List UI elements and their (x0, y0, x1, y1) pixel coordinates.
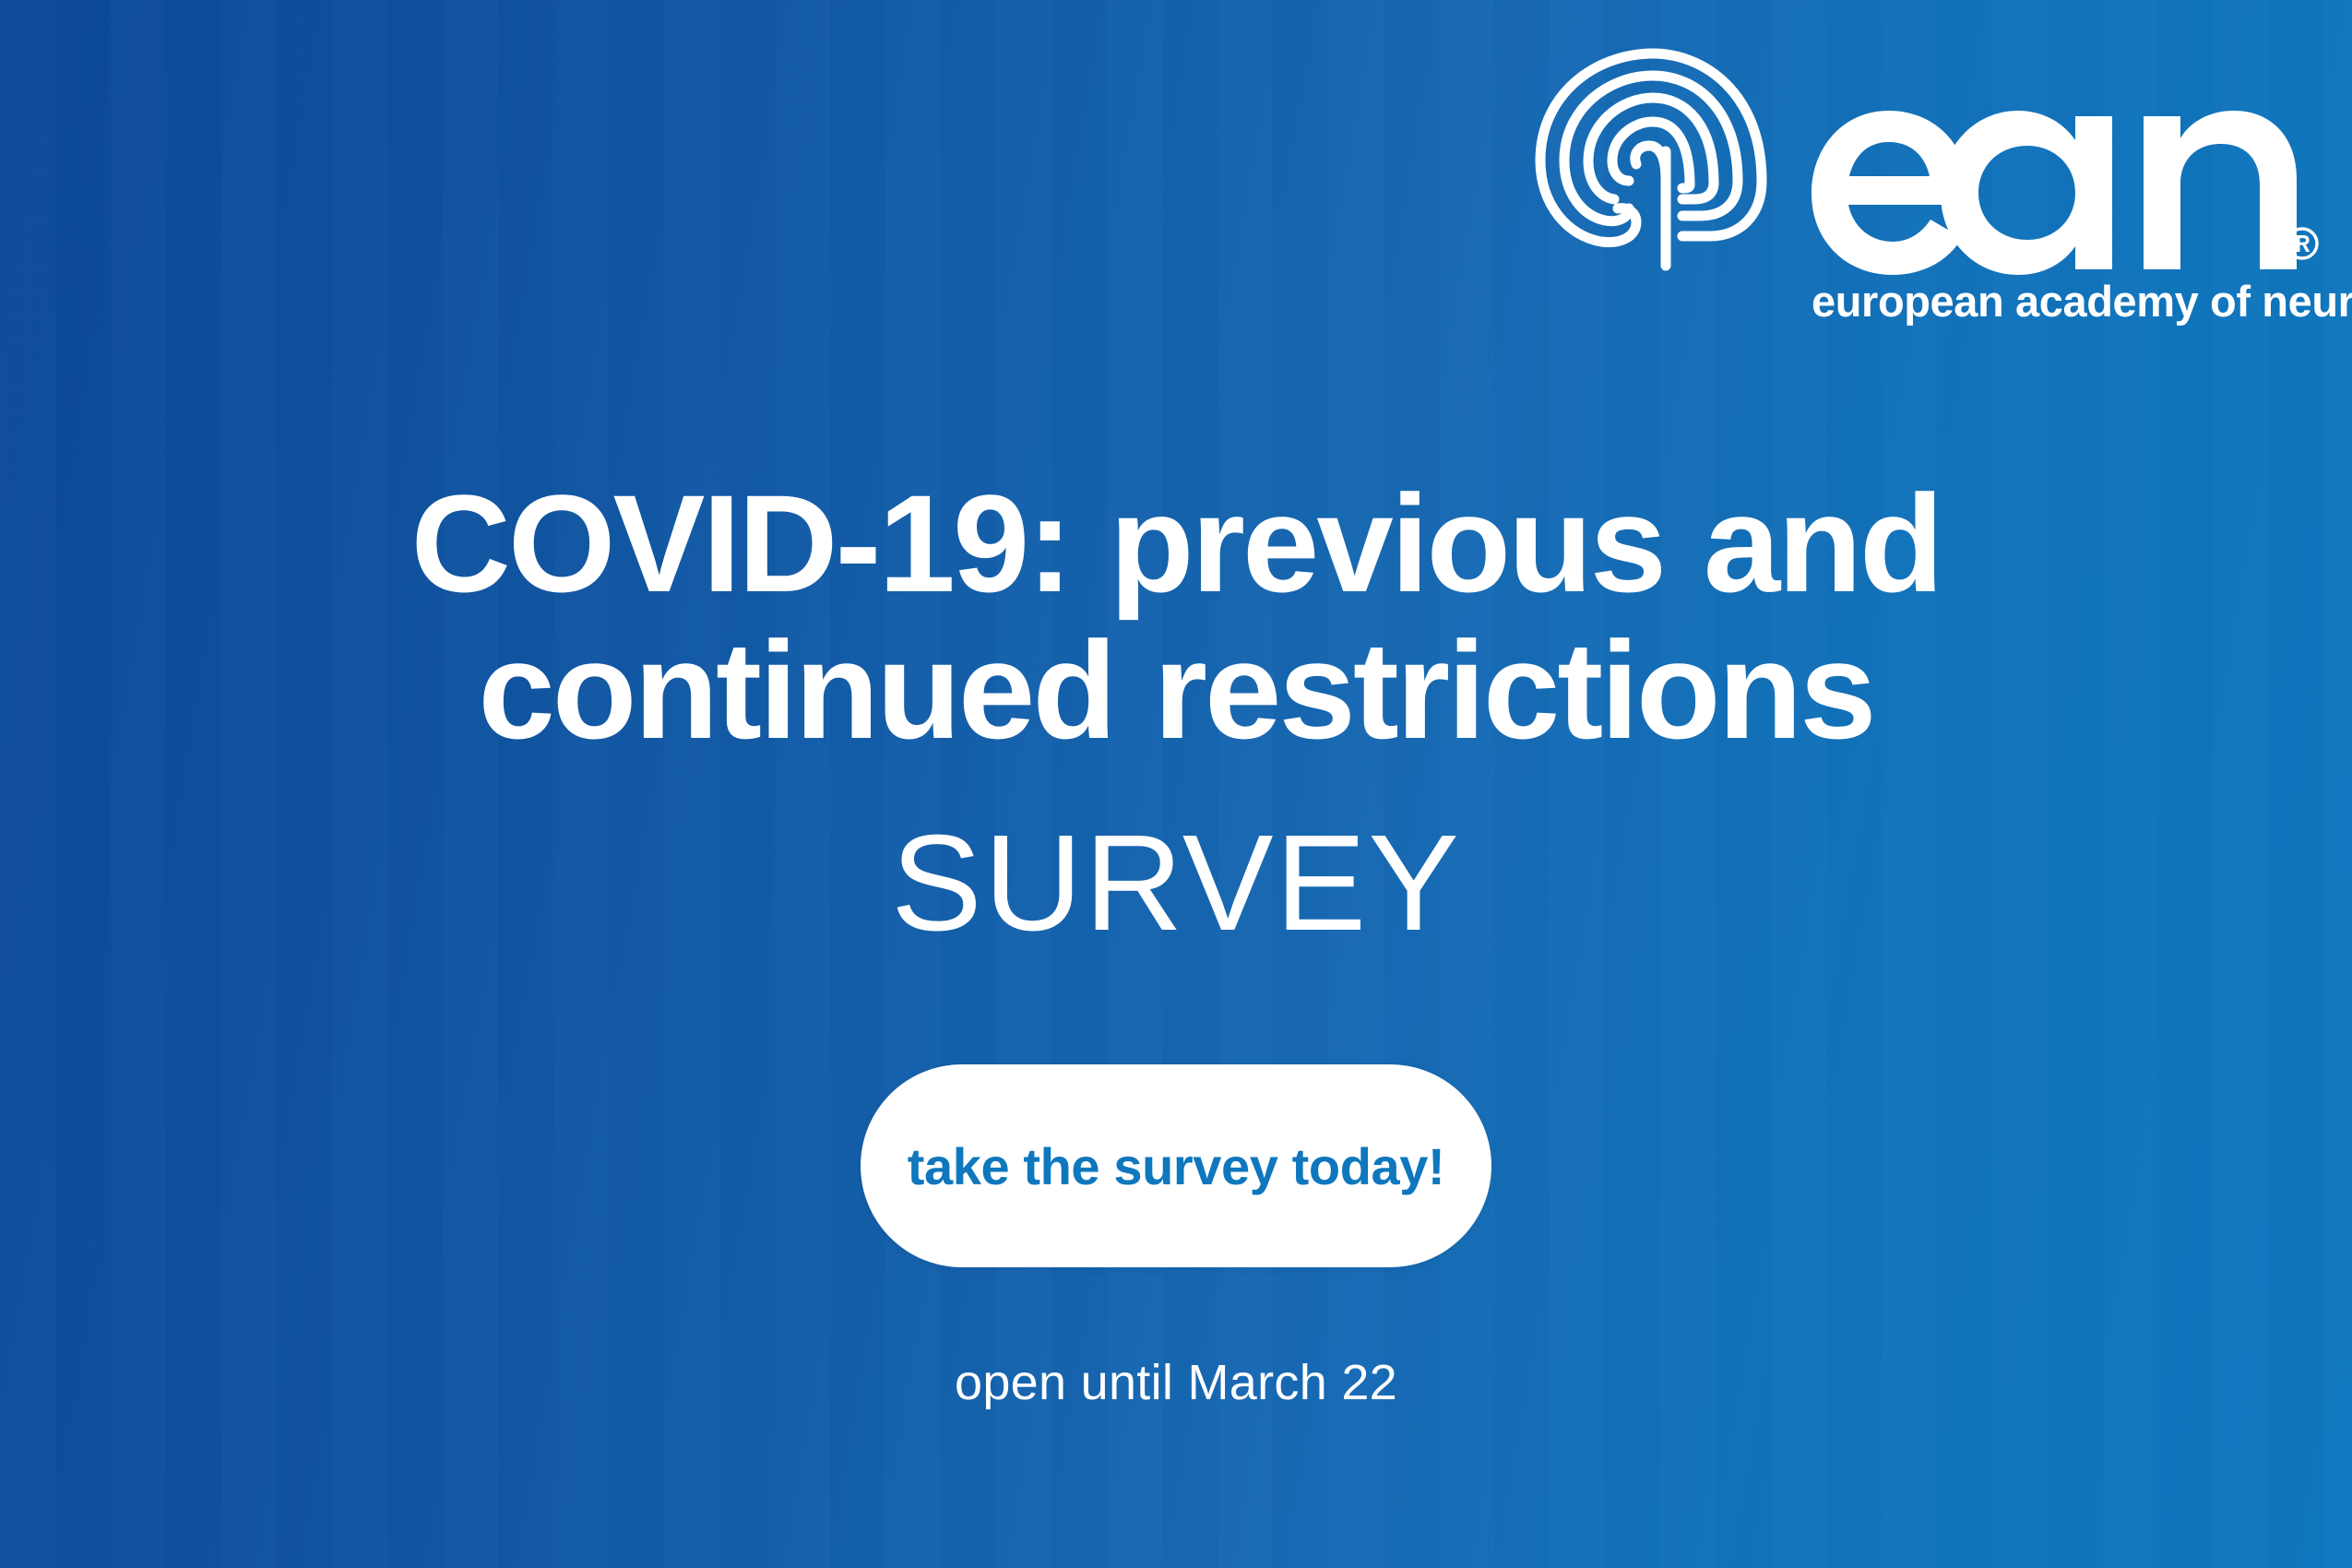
cta-container: take the survey today! (0, 1064, 2352, 1267)
registered-trademark-icon (2284, 225, 2321, 262)
ean-labyrinth-brain-icon (1520, 41, 1806, 271)
page-title: COVID-19: previous and continued restric… (0, 470, 2352, 764)
ean-logo: european academy of neurology (1520, 44, 2295, 330)
headline-line-2: continued restrictions (138, 617, 2214, 764)
survey-deadline-text: open until March 22 (0, 1358, 2352, 1408)
ean-wordmark (1800, 44, 2317, 275)
promo-banner: european academy of neurology COVID-19: … (0, 0, 2352, 1568)
logo-lockup (1520, 44, 2295, 266)
take-survey-button[interactable]: take the survey today! (861, 1064, 1491, 1267)
logo-tagline: european academy of neurology (1812, 279, 2352, 323)
banner-content: COVID-19: previous and continued restric… (0, 470, 2352, 1408)
subtitle-survey: SURVEY (0, 815, 2352, 952)
headline-line-1: COVID-19: previous and (138, 470, 2214, 617)
